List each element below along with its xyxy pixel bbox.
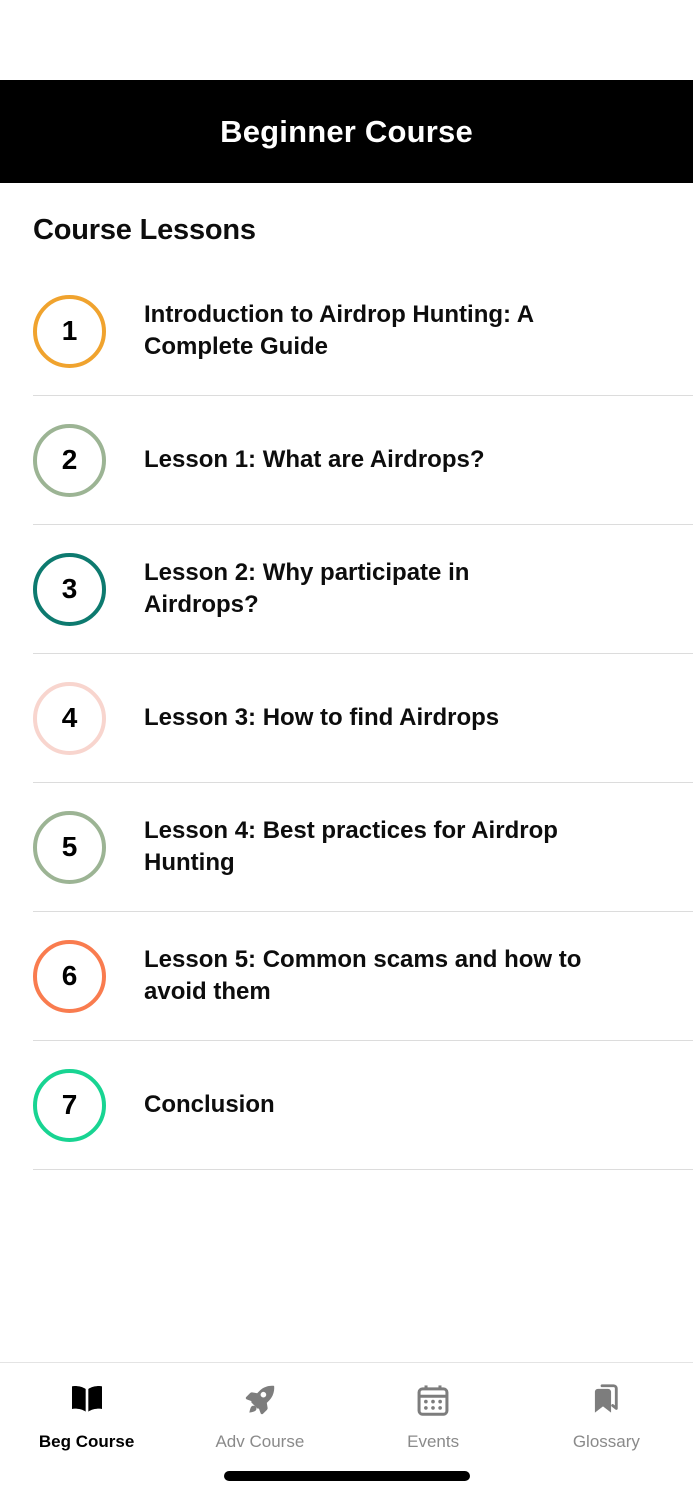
lesson-title: Lesson 2: Why participate in Airdrops?: [144, 557, 584, 621]
app-screen: Beginner Course Course Lessons 1Introduc…: [0, 0, 693, 1500]
lesson-number-badge: 6: [33, 940, 106, 1013]
lesson-title: Conclusion: [144, 1089, 275, 1121]
lesson-title: Lesson 5: Common scams and how to avoid …: [144, 944, 584, 1008]
lesson-row[interactable]: 1Introduction to Airdrop Hunting: A Comp…: [0, 267, 693, 395]
lesson-number-badge: 2: [33, 424, 106, 497]
page-title: Beginner Course: [220, 114, 473, 150]
lesson-row[interactable]: 6Lesson 5: Common scams and how to avoid…: [0, 912, 693, 1040]
lesson-title: Lesson 3: How to find Airdrops: [144, 702, 499, 734]
lesson-row[interactable]: 5Lesson 4: Best practices for Airdrop Hu…: [0, 783, 693, 911]
lesson-number: 5: [62, 833, 78, 861]
tab-label: Adv Course: [215, 1432, 304, 1452]
lesson-row[interactable]: 3Lesson 2: Why participate in Airdrops?: [0, 525, 693, 653]
status-bar: [0, 0, 693, 80]
lesson-number: 3: [62, 575, 78, 603]
tab-label: Glossary: [573, 1432, 640, 1452]
tab-beg-course[interactable]: Beg Course: [0, 1379, 173, 1452]
lesson-row[interactable]: 2Lesson 1: What are Airdrops?: [0, 396, 693, 524]
open-book-icon: [66, 1379, 108, 1421]
lesson-row[interactable]: 4Lesson 3: How to find Airdrops: [0, 654, 693, 782]
lesson-divider: [33, 1169, 693, 1170]
lesson-number: 6: [62, 962, 78, 990]
lesson-title: Introduction to Airdrop Hunting: A Compl…: [144, 299, 584, 363]
lesson-number: 4: [62, 704, 78, 732]
tab-label: Beg Course: [39, 1432, 134, 1452]
lesson-number-badge: 1: [33, 295, 106, 368]
lesson-row[interactable]: 7Conclusion: [0, 1041, 693, 1169]
tab-events[interactable]: Events: [347, 1379, 520, 1452]
rocket-icon: [239, 1379, 281, 1421]
tab-adv-course[interactable]: Adv Course: [173, 1379, 346, 1452]
lesson-number: 7: [62, 1091, 78, 1119]
bookmarks-icon: [585, 1379, 627, 1421]
calendar-icon: [412, 1379, 454, 1421]
home-indicator: [224, 1471, 470, 1481]
lesson-number-badge: 3: [33, 553, 106, 626]
lesson-title: Lesson 1: What are Airdrops?: [144, 444, 485, 476]
lesson-number-badge: 4: [33, 682, 106, 755]
lesson-number: 2: [62, 446, 78, 474]
app-header: Beginner Course: [0, 80, 693, 183]
lesson-number: 1: [62, 317, 78, 345]
lesson-number-badge: 7: [33, 1069, 106, 1142]
tab-glossary[interactable]: Glossary: [520, 1379, 693, 1452]
lesson-number-badge: 5: [33, 811, 106, 884]
lessons-scroll-area[interactable]: Course Lessons 1Introduction to Airdrop …: [0, 183, 693, 1362]
section-title: Course Lessons: [0, 183, 693, 247]
lesson-title: Lesson 4: Best practices for Airdrop Hun…: [144, 815, 584, 879]
tab-label: Events: [407, 1432, 459, 1452]
lesson-list: 1Introduction to Airdrop Hunting: A Comp…: [0, 267, 693, 1170]
